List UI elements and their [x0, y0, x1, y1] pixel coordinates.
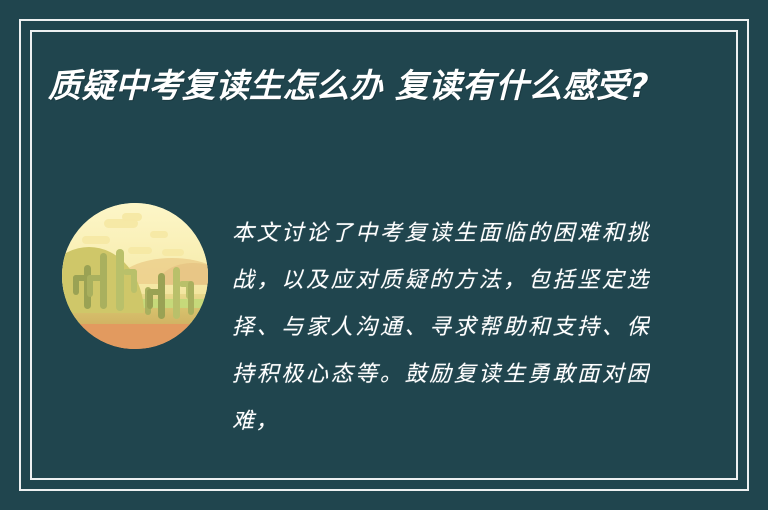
cloud-icon [128, 247, 152, 254]
cloud-icon [82, 236, 110, 244]
desert-scene-illustration [62, 203, 208, 349]
cactus-icon [173, 267, 180, 319]
sand-band [62, 324, 208, 349]
cloud-icon [122, 213, 142, 221]
cloud-icon [150, 231, 168, 238]
cactus-icon [100, 253, 107, 309]
article-thumbnail [62, 203, 208, 349]
article-summary: 本文讨论了中考复读生面临的困难和挑战，以及应对质疑的方法，包括坚定选择、与家人沟… [232, 210, 650, 445]
cactus-icon [116, 249, 124, 311]
article-card: 质疑中考复读生怎么办 复读有什么感受? [0, 0, 768, 510]
cactus-icon [158, 273, 165, 319]
article-title: 质疑中考复读生怎么办 复读有什么感受? [48, 60, 678, 112]
cloud-icon [162, 249, 184, 256]
cactus-icon [188, 281, 194, 315]
